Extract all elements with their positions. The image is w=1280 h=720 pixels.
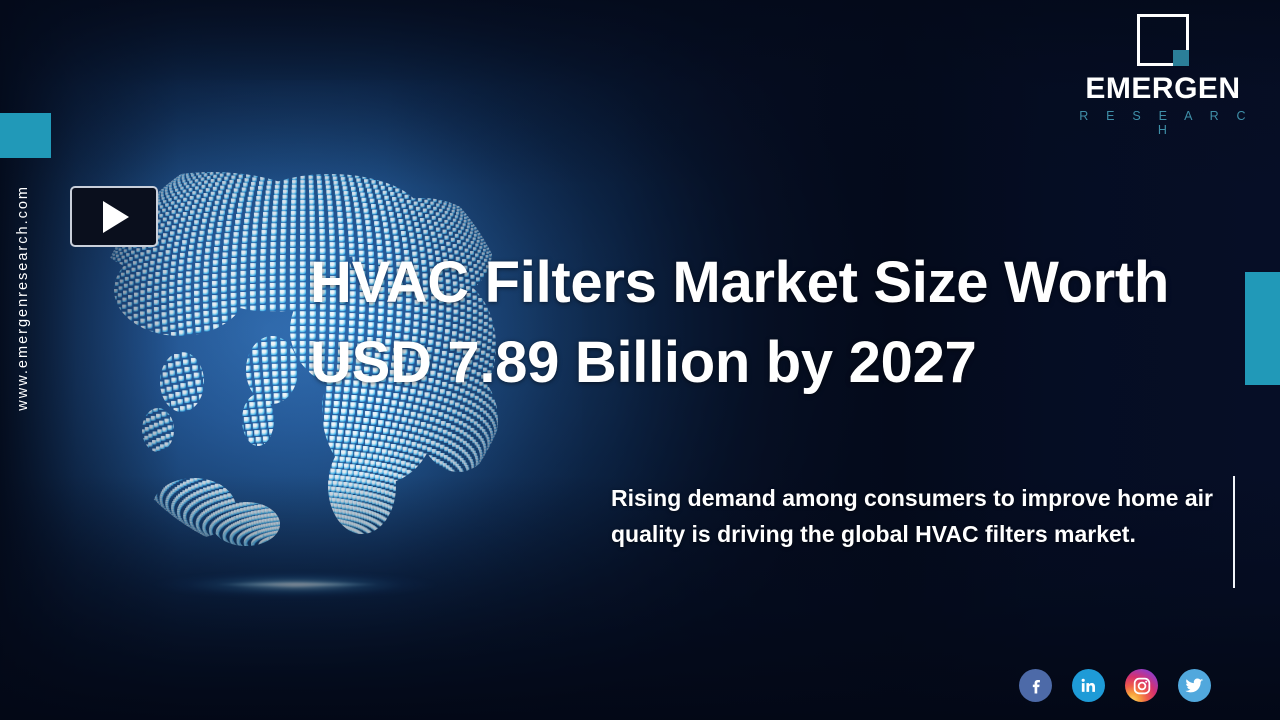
linkedin-icon[interactable] [1072, 669, 1105, 702]
logo-name: EMERGEN [1068, 74, 1258, 104]
page-title: HVAC Filters Market Size Worth USD 7.89 … [310, 243, 1190, 403]
social-links [1019, 669, 1211, 702]
play-video-button[interactable] [70, 186, 158, 247]
subtitle-divider [1233, 476, 1235, 588]
marketing-slide: www.emergenresearch.com EMERGEN R E S E … [0, 0, 1280, 720]
brand-logo[interactable]: EMERGEN R E S E A R C H [1068, 14, 1258, 137]
square-outline-icon [1137, 14, 1189, 66]
logo-tagline: R E S E A R C H [1074, 109, 1258, 137]
website-url-vertical[interactable]: www.emergenresearch.com [0, 185, 45, 545]
accent-block-right [1245, 272, 1280, 385]
facebook-icon[interactable] [1019, 669, 1052, 702]
website-url-text: www.emergenresearch.com [15, 185, 31, 411]
logo-square-accent [1173, 50, 1189, 66]
accent-square-left [0, 113, 51, 158]
twitter-icon[interactable] [1178, 669, 1211, 702]
subtitle-text: Rising demand among consumers to improve… [611, 481, 1226, 552]
play-triangle-icon [103, 201, 129, 233]
instagram-icon[interactable] [1125, 669, 1158, 702]
